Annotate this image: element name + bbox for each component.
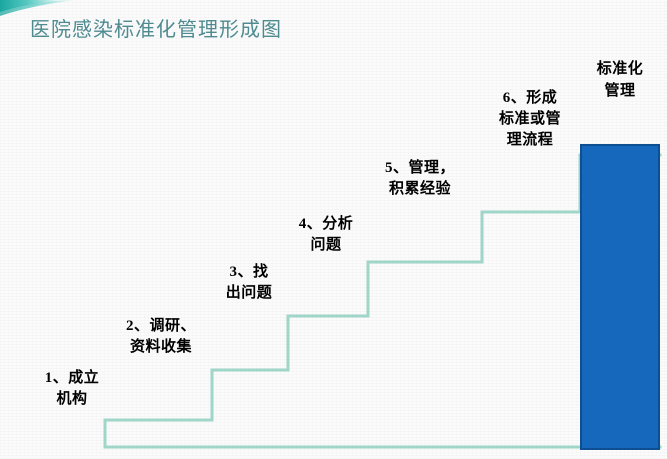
step-label-3: 3、找 出问题: [208, 262, 290, 304]
goal-bar: [580, 144, 660, 450]
slide-canvas: 医院感染标准化管理形成图 1、成立 机构 2、调研、 资料收集 3、找 出问题 …: [0, 0, 667, 459]
step-label-1: 1、成立 机构: [26, 368, 118, 410]
step-label-5: 5、管理， 积累经验: [366, 158, 474, 200]
step-label-4: 4、分析 问题: [282, 214, 370, 256]
step-label-2: 2、调研、 资料收集: [108, 316, 214, 358]
goal-label: 标准化 管理: [578, 58, 662, 102]
step-label-6: 6、形成 标准或管 理流程: [482, 88, 578, 151]
